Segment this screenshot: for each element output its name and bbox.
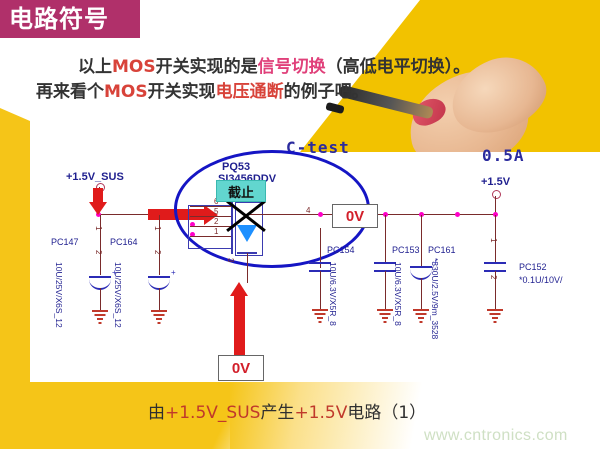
cap-pc164-value: 10U/25V/X6S_12 — [113, 262, 123, 328]
caption-e: 电路（1） — [347, 403, 426, 423]
cap-pc161-ref: PC161 — [428, 245, 456, 255]
caption-c: 产生 — [260, 403, 294, 423]
caption-b: +1.5V_SUS — [165, 403, 260, 423]
mos-pin3-wire — [247, 253, 248, 283]
mos-pin-label-4: 4 — [306, 206, 310, 215]
cap-pc164-top-wire — [159, 215, 160, 275]
cap-pc161-bot-wire — [421, 278, 422, 309]
voltage-box-right: 0V — [332, 204, 378, 228]
yellow-corner-triangle — [0, 108, 30, 180]
cap-pc152-ref: PC152 — [519, 262, 547, 272]
ground-pc153 — [377, 309, 393, 323]
cap-pc154-value: 10U/6.3V/X5R_8 — [328, 262, 338, 326]
slide-root: 电路符号 以上MOS开关实现的是信号切换（高低电平切换）。 再来看个MOS开关实… — [0, 0, 600, 449]
intro-line1: 以上MOS开关实现的是信号切换（高低电平切换）。 — [78, 57, 470, 77]
cap-pc164-pin1: 1 — [153, 226, 162, 230]
intro-line2: 再来看个MOS开关实现电压通断的例子吧。 — [36, 80, 578, 105]
supply-left-label: +1.5V_SUS — [66, 171, 124, 183]
ground-pc147 — [92, 310, 108, 324]
mosfet-disabled-x-icon — [222, 198, 270, 234]
arrow-up-head — [230, 282, 248, 296]
cap-pc153-top-wire — [385, 215, 386, 262]
cap-pc161-plate-top — [410, 266, 432, 268]
cap-pc147-bot-wire — [100, 288, 101, 310]
node-right-3 — [455, 212, 460, 217]
ground-pc152 — [487, 309, 503, 323]
ground-pc164 — [151, 310, 167, 324]
watermark: www.cntronics.com — [424, 427, 568, 445]
intro-l2-a: 再来看个 — [36, 82, 104, 102]
header-badge-label: 电路符号 — [9, 4, 109, 34]
arrow-down-head — [89, 202, 107, 215]
cap-pc153-value: 10U/6.3V/X5R_8 — [393, 262, 403, 326]
intro-l2-b: 开关实现 — [148, 82, 216, 102]
intro-text: 以上MOS开关实现的是信号切换（高低电平切换）。 再来看个MOS开关实现电压通断… — [78, 55, 578, 105]
mos-pin-label-2: 2 — [214, 217, 218, 226]
mos-pin1-wire — [190, 236, 232, 237]
cap-pc147-pin1: 1 — [94, 226, 103, 230]
intro-l2-c: 电压通断 — [216, 82, 284, 102]
mos-pin-label-3: 3 — [226, 258, 235, 262]
cap-pc147-ref: PC147 — [51, 237, 79, 247]
cap-pc152-pin1: 1 — [489, 238, 498, 242]
current-rating-label: 0.5A — [482, 146, 525, 165]
intro-l1-a: 以上 — [78, 57, 112, 77]
intro-l1-c: 信号切换 — [258, 57, 326, 77]
voltage-box-gate: 0V — [218, 355, 264, 381]
mosfet-ref-label: PQ53 — [222, 161, 250, 173]
cap-pc147-pin2: 2 — [94, 250, 103, 254]
cap-pc154-bot-wire — [320, 271, 321, 309]
caption-d: +1.5V — [294, 403, 347, 423]
cap-pc147-value: 10U/25V/X6S_12 — [54, 262, 64, 328]
terminal-right — [492, 190, 501, 199]
cap-pc161-value: *330U/2.5V/9m_3528 — [430, 258, 440, 339]
cap-pc153-bot-wire — [385, 271, 386, 309]
intro-l2-d: 的例子吧。 — [284, 82, 369, 102]
intro-l1-d: （高低电平切换）。 — [326, 57, 471, 77]
mos-pin-label-1: 1 — [214, 227, 218, 236]
intro-l1-mos: MOS — [112, 57, 156, 77]
cap-pc152-plate-top — [484, 262, 506, 264]
caption-a: 由 — [148, 403, 165, 423]
cap-pc161-top-wire — [421, 215, 422, 268]
mosfet-state-badge: 截止 — [216, 180, 266, 202]
cap-pc164-bot-wire — [159, 288, 160, 310]
cap-pc147-top-wire — [100, 215, 101, 275]
cap-pc152-pin2: 2 — [489, 275, 498, 279]
intro-l2-mos: MOS — [104, 82, 148, 102]
cap-pc153-ref: PC153 — [392, 245, 420, 255]
cap-pc164-polarity: + — [171, 268, 176, 277]
cap-pc154-ref: PC154 — [327, 245, 355, 255]
arrow-up-shaft — [234, 295, 245, 355]
intro-l1-b: 开关实现的是 — [156, 57, 258, 77]
cap-pc164-pin2: 2 — [153, 250, 162, 254]
mos-pin-label-5: 5 — [214, 207, 218, 216]
cap-pc164-plate-top — [148, 276, 170, 278]
cap-pc164-ref: PC164 — [110, 237, 138, 247]
supply-right-label: +1.5V — [481, 176, 510, 188]
slide-caption: 由+1.5V_SUS产生+1.5V电路（1） — [148, 398, 426, 423]
cap-pc152-value: *0.1U/10V/ — [519, 275, 563, 285]
ground-pc154 — [312, 309, 328, 323]
cap-pc147-plate-top — [89, 276, 111, 278]
ground-pc161 — [413, 309, 429, 323]
